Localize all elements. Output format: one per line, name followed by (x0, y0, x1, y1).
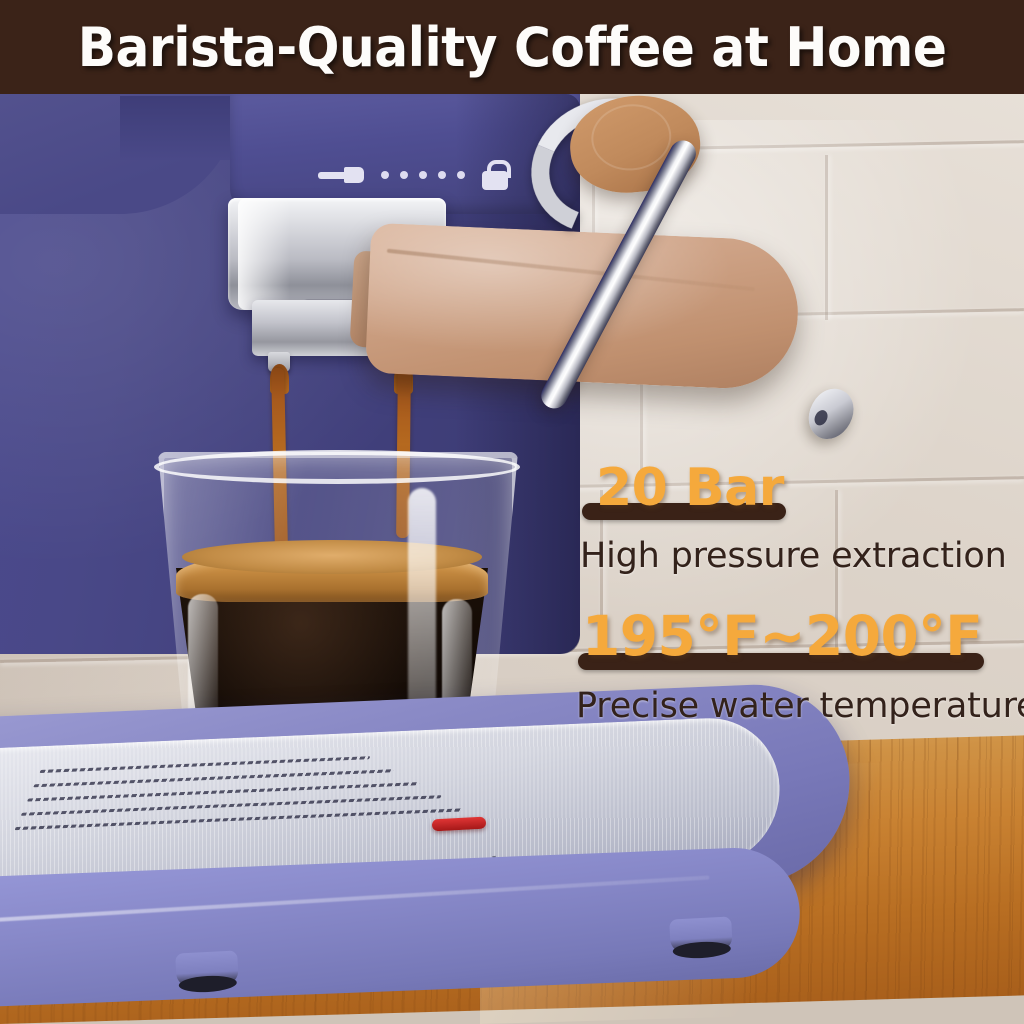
glass-rim (154, 450, 520, 484)
feature-headline: 20 Bar (596, 458, 784, 518)
portafilter-insert-icon (318, 167, 364, 183)
banner-title: Barista-Quality Coffee at Home (78, 16, 947, 79)
feature-headline: 195°F~200°F (582, 604, 982, 668)
header-banner: Barista-Quality Coffee at Home (0, 0, 1024, 94)
lock-icon (482, 160, 508, 190)
product-banner-image: Nesskoko Barista-Quality Coffee at Home … (0, 0, 1024, 1024)
feature-headline-wrap: 195°F~200°F (576, 612, 1006, 674)
feature-callout-temperature: 195°F~200°F Precise water temperature (576, 612, 1006, 726)
tile-grout-line (825, 155, 828, 320)
machine-foot (175, 950, 239, 987)
machine-foot (669, 916, 733, 953)
crema-surface (182, 540, 482, 574)
feature-callout-pressure: 20 Bar High pressure extraction (580, 462, 1000, 576)
feature-headline-wrap: 20 Bar (580, 462, 1000, 524)
feature-subtext: Precise water temperature (576, 686, 1006, 726)
machine-control-strip (318, 158, 508, 192)
feature-subtext: High pressure extraction (580, 536, 1000, 576)
indicator-dots (381, 171, 465, 179)
